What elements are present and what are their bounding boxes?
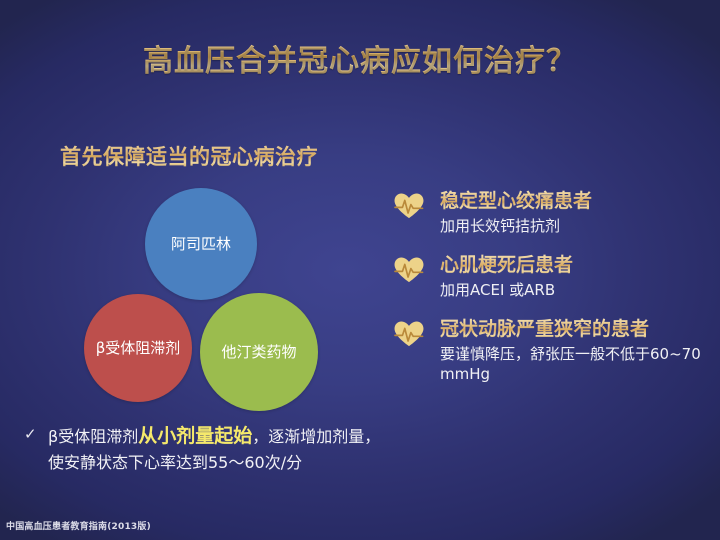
list-item: 冠状动脉严重狭窄的患者 要谨慎降压，舒张压一般不低于60~70 mmHg — [392, 318, 712, 384]
treatment-bullet-list: 稳定型心绞痛患者 加用长效钙拮抗剂 心肌梗死后患者 加用ACEI 或ARB 冠状… — [392, 190, 712, 402]
venn-label-beta-blocker: β受体阻滞剂 — [92, 340, 185, 357]
bullet-subtext: 加用ACEI 或ARB — [440, 280, 712, 300]
dosage-note-body: β受体阻滞剂从小剂量起始，逐渐增加剂量，使安静状态下心率达到55～60次/分 — [22, 422, 382, 476]
venn-circle-beta-blocker: β受体阻滞剂 — [84, 294, 192, 402]
list-item: 稳定型心绞痛患者 加用长效钙拮抗剂 — [392, 190, 712, 236]
venn-diagram: 阿司匹林 β受体阻滞剂 他汀类药物 — [75, 185, 345, 415]
venn-circle-aspirin: 阿司匹林 — [145, 188, 257, 300]
bullet-heading: 心肌梗死后患者 — [440, 254, 712, 278]
slide-canvas: 高血压合并冠心病应如何治疗？ 首先保障适当的冠心病治疗 阿司匹林 β受体阻滞剂 … — [0, 0, 720, 540]
heart-pulse-icon — [392, 256, 426, 284]
section-subtitle: 首先保障适当的冠心病治疗 — [60, 141, 318, 171]
bullet-subtext: 加用长效钙拮抗剂 — [440, 216, 712, 236]
source-footer: 中国高血压患者教育指南(2013版) — [6, 519, 151, 532]
heart-pulse-icon — [392, 320, 426, 348]
bullet-subtext: 要谨慎降压，舒张压一般不低于60~70 mmHg — [440, 344, 712, 385]
check-icon: ✓ — [24, 423, 37, 446]
page-title: 高血压合并冠心病应如何治疗？ — [0, 36, 720, 80]
bullet-heading: 稳定型心绞痛患者 — [440, 190, 712, 214]
bullet-heading: 冠状动脉严重狭窄的患者 — [440, 318, 712, 342]
venn-label-aspirin: 阿司匹林 — [167, 236, 235, 253]
list-item: 心肌梗死后患者 加用ACEI 或ARB — [392, 254, 712, 300]
note-part-1: β受体阻滞剂 — [48, 427, 138, 446]
venn-circle-statin: 他汀类药物 — [200, 293, 318, 411]
venn-label-statin: 他汀类药物 — [217, 344, 300, 361]
dosage-note: ✓ β受体阻滞剂从小剂量起始，逐渐增加剂量，使安静状态下心率达到55～60次/分 — [22, 422, 382, 476]
heart-pulse-icon — [392, 192, 426, 220]
note-highlight: 从小剂量起始 — [138, 425, 252, 447]
